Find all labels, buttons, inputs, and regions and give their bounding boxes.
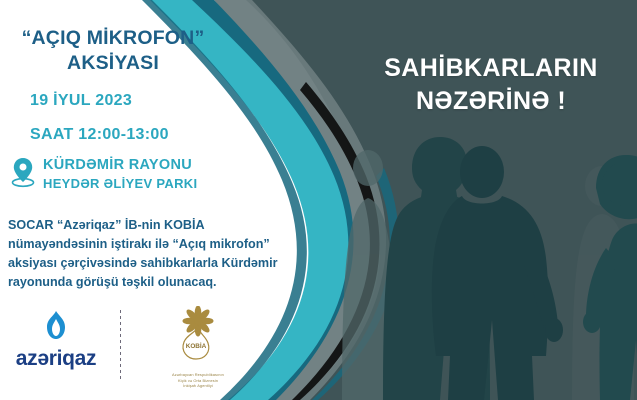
event-time: SAAT 12:00-13:00 (30, 126, 169, 144)
kobia-flower-icon: KOBİA (167, 306, 229, 366)
event-date: 19 İYUL 2023 (30, 92, 132, 110)
location-line-2: HEYDƏR ƏLİYEV PARKI (43, 176, 197, 191)
map-pin-icon (10, 156, 36, 188)
location-line-1: KÜRDƏMİR RAYONU (43, 157, 197, 173)
right-headline-line-1: SAHİBKARLARIN (352, 52, 630, 85)
azeriqaz-logo: azəriqaz (8, 306, 104, 371)
kobia-caption-line-3: İnkişafı Agentliyi (139, 383, 257, 389)
left-content-panel: “AÇIQ MİKROFON” AKSİYASI 19 İYUL 2023 SA… (0, 0, 340, 400)
logo-row: azəriqaz (8, 306, 308, 394)
logo-divider (120, 310, 121, 380)
flame-wrap (8, 310, 104, 345)
gas-flame-icon (42, 310, 70, 340)
page-title: “AÇIQ MİKROFON” AKSİYASI (8, 26, 218, 76)
headline-line-1: “AÇIQ MİKROFON” (8, 26, 218, 51)
right-headline: SAHİBKARLARIN NƏZƏRİNƏ ! (352, 52, 630, 117)
svg-text:KOBİA: KOBİA (186, 341, 207, 350)
azeriqaz-wordmark: azəriqaz (8, 347, 104, 371)
kobia-caption: Azərbaycan Respublikasının Kiçik və Orta… (139, 372, 257, 389)
event-location: KÜRDƏMİR RAYONU HEYDƏR ƏLİYEV PARKI (10, 155, 197, 191)
headline-line-2: AKSİYASI (8, 51, 218, 76)
poster-canvas: “AÇIQ MİKROFON” AKSİYASI 19 İYUL 2023 SA… (0, 0, 637, 400)
event-description: SOCAR “Azəriqaz” İB-nin KOBİA nümayəndəs… (8, 216, 304, 292)
kobia-logo: KOBİA Azərbaycan Respublikasının Kiçik v… (139, 306, 257, 389)
right-headline-line-2: NƏZƏRİNƏ ! (352, 85, 630, 118)
location-lines: KÜRDƏMİR RAYONU HEYDƏR ƏLİYEV PARKI (43, 155, 197, 191)
